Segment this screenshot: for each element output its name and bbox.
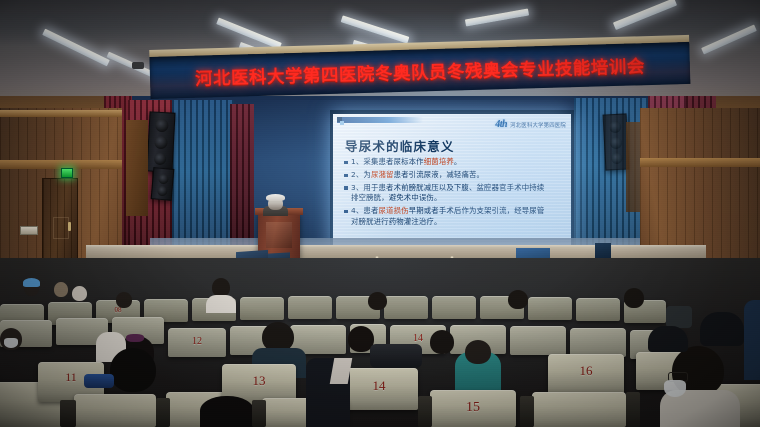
photo-vignette — [0, 0, 760, 427]
auditorium-photo: 河北医科大学第四医院冬奥队员冬残奥会专业技能培训会 4th 河北医科大学第四医院 — [0, 0, 760, 427]
